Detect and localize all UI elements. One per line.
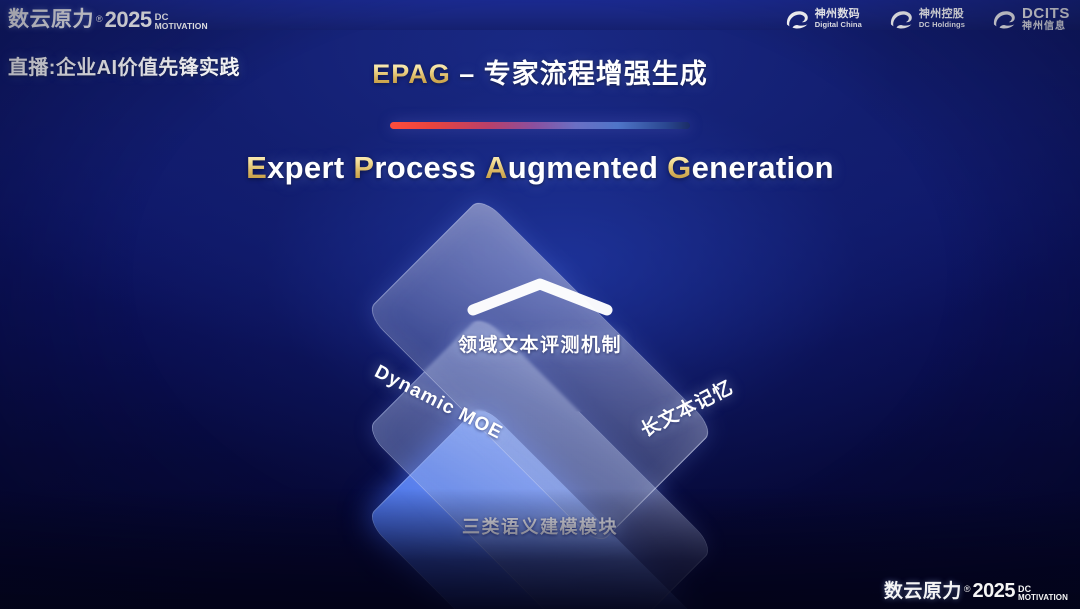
slide-canvas: 数云原力 ® 2025 DC MOTIVATION 直播:企业AI价值先锋实践 … xyxy=(0,0,1080,609)
brand-logo-cn: 数云原力 xyxy=(8,3,94,33)
watermark-registered-mark: ® xyxy=(964,584,971,594)
brand-logo-year: 2025 xyxy=(105,7,152,33)
brand-logo: 数云原力 ® 2025 DC MOTIVATION xyxy=(8,3,208,33)
subtitle-rest-process: rocess xyxy=(374,150,476,185)
page-subtitle: Expert Process Augmented Generation xyxy=(0,150,1080,186)
subtitle-rest-generation: eneration xyxy=(692,150,834,185)
watermark-cn: 数云原力 xyxy=(884,576,962,603)
page-title-separator: – xyxy=(451,59,484,89)
partner-logo-text: 神州数码 Digital China xyxy=(815,9,862,28)
partner-logo-group: 神州数码 Digital China 神州控股 DC Holdings DCIT… xyxy=(784,6,1070,32)
watermark-dc-motivation: DC MOTIVATION xyxy=(1018,585,1068,603)
partner-name-en: DC Holdings xyxy=(919,21,965,29)
subtitle-rest-augmented: ugmented xyxy=(508,150,659,185)
partner-logo-dcits: DCITS 神州信息 xyxy=(991,6,1070,32)
watermark-motivation: MOTIVATION xyxy=(1018,594,1068,601)
subtitle-initial-e: E xyxy=(246,150,267,185)
partner-logo-text: DCITS 神州信息 xyxy=(1022,6,1070,32)
subtitle-rest-expert: xpert xyxy=(267,150,344,185)
partner-logo-text: 神州控股 DC Holdings xyxy=(919,9,965,28)
gradient-divider xyxy=(390,122,690,129)
partner-name-en: Digital China xyxy=(815,21,862,29)
swoosh-icon xyxy=(784,8,810,30)
swoosh-icon xyxy=(991,8,1017,30)
subtitle-initial-p: P xyxy=(353,150,374,185)
partner-name-en: 神州信息 xyxy=(1022,22,1070,33)
brand-logo-dc-motivation: DC MOTIVATION xyxy=(155,14,208,33)
subtitle-initial-g: G xyxy=(667,150,691,185)
watermark-year: 2025 xyxy=(972,580,1015,603)
partner-name-cn: DCITS xyxy=(1022,6,1070,22)
watermark-logo: 数云原力 ® 2025 DC MOTIVATION xyxy=(884,576,1068,603)
brand-logo-registered-mark: ® xyxy=(96,14,103,24)
page-title-chinese: 专家流程增强生成 xyxy=(484,59,708,89)
subtitle-space-3 xyxy=(658,150,667,185)
page-title-acronym: EPAG xyxy=(372,59,451,89)
chevron-up-icon xyxy=(465,276,615,318)
partner-logo-dc-holdings: 神州控股 DC Holdings xyxy=(888,8,965,30)
subtitle-initial-a: A xyxy=(485,150,508,185)
brand-logo-motivation: MOTIVATION xyxy=(155,23,208,31)
diagram-layer-top xyxy=(375,206,705,536)
subtitle-space-2 xyxy=(476,150,485,185)
partner-logo-digital-china: 神州数码 Digital China xyxy=(784,8,862,30)
page-title: EPAG – 专家流程增强生成 xyxy=(0,52,1080,91)
swoosh-icon xyxy=(888,8,914,30)
